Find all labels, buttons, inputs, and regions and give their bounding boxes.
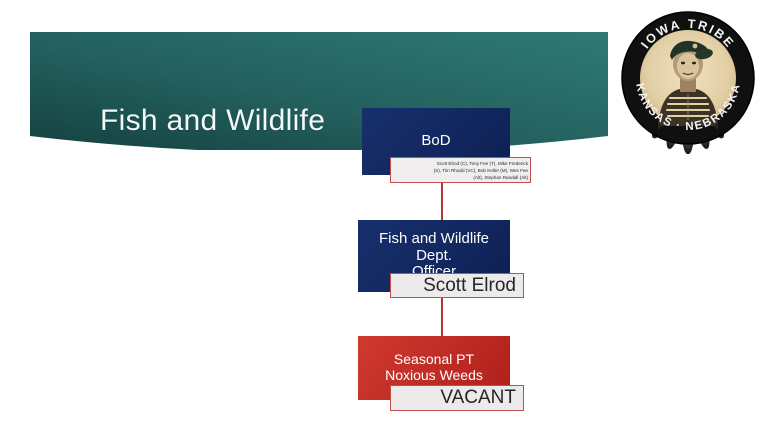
name-label-dept-officer[interactable]: Scott Elrod bbox=[390, 273, 524, 298]
name-label-dept-officer-text: Scott Elrod bbox=[423, 275, 516, 297]
page-title: Fish and Wildlife bbox=[100, 104, 325, 138]
seasonal-label-line-2: Noxious Weeds bbox=[385, 368, 483, 384]
status-badge-seasonal-pt[interactable]: VACANT bbox=[390, 385, 524, 411]
connector-dept-to-seasonal bbox=[441, 296, 443, 340]
seasonal-label-line-1: Seasonal PT bbox=[385, 352, 483, 368]
slide-canvas: Fish and Wildlife BoD Scott Elrod (C), T… bbox=[0, 0, 768, 429]
iowa-tribe-seal-graphic: IOWA TRIBE KANSAS · NEBRASKA bbox=[612, 2, 764, 154]
title-banner: Fish and Wildlife bbox=[30, 32, 608, 150]
iowa-tribe-seal-icon: IOWA TRIBE KANSAS · NEBRASKA bbox=[612, 2, 764, 154]
org-node-bod-label: BoD bbox=[421, 133, 450, 150]
connector-bod-to-dept bbox=[441, 182, 443, 224]
bod-members-callout: Scott Elrod (C), Tony Fee (T), Mike Fred… bbox=[390, 157, 531, 183]
dept-label-line-1: Fish and Wildlife bbox=[379, 231, 489, 248]
bod-members-line-2: (S), Tim Rhodd (VC), Bob Keller (M), Wes… bbox=[394, 167, 528, 174]
bod-members-line-3: (Alt), Stephan Randall (Alt) bbox=[394, 174, 528, 181]
org-node-seasonal-pt-label: Seasonal PT Noxious Weeds bbox=[385, 352, 483, 383]
status-badge-seasonal-pt-text: VACANT bbox=[440, 387, 516, 409]
dept-label-line-2: Dept. bbox=[379, 248, 489, 265]
bod-members-line-1: Scott Elrod (C), Tony Fee (T), Mike Fred… bbox=[394, 160, 528, 167]
